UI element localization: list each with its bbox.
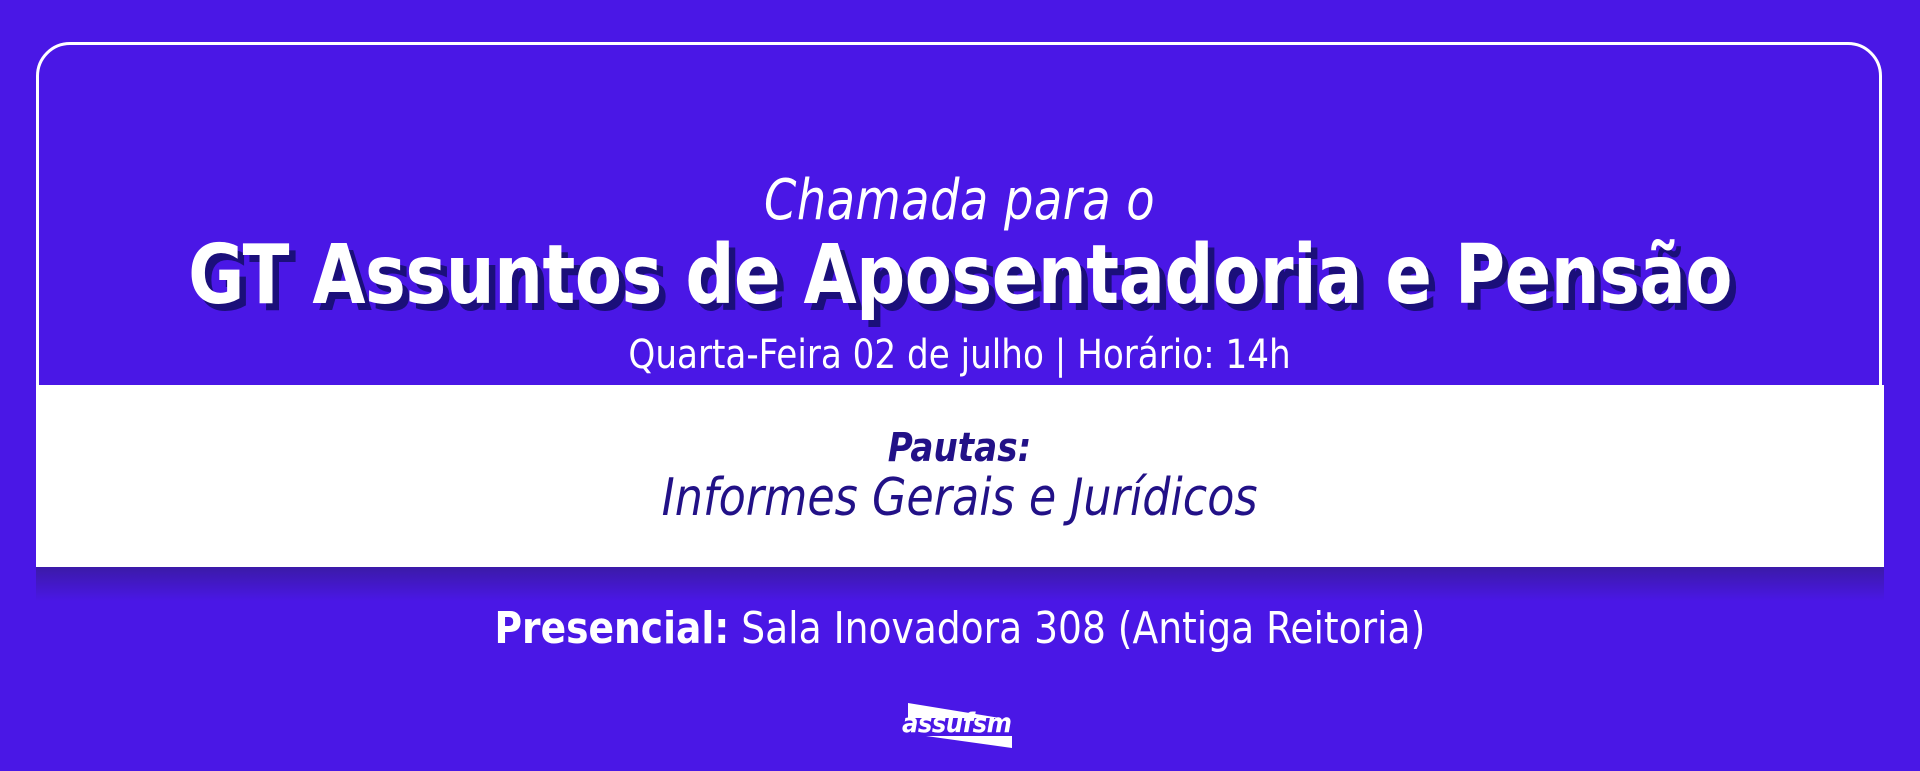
agenda-band: Pautas: Informes Gerais e Jurídicos — [36, 385, 1884, 567]
agenda-label: Pautas: — [888, 427, 1031, 469]
logo-container: assufsm — [0, 700, 1920, 760]
venue-value: Sala Inovadora 308 (Antiga Reitoria) — [741, 603, 1425, 654]
poster-kicker: Chamada para o — [764, 173, 1155, 229]
venue-line: Presencial: Sala Inovadora 308 (Antiga R… — [495, 607, 1426, 651]
poster-headline: GT Assuntos de Aposentadoria e Pensão — [188, 235, 1732, 317]
poster-canvas: Chamada para o GT Assuntos de Aposentado… — [0, 0, 1920, 771]
agenda-items: Informes Gerais e Jurídicos — [662, 471, 1258, 526]
poster-header: Chamada para o GT Assuntos de Aposentado… — [0, 0, 1920, 385]
assufsm-logo-text: assufsm — [902, 710, 1011, 737]
assufsm-logo: assufsm — [896, 700, 1024, 752]
venue-band: Presencial: Sala Inovadora 308 (Antiga R… — [36, 567, 1884, 722]
poster-datetime: Quarta-Feira 02 de julho | Horário: 14h — [629, 335, 1291, 375]
venue-label: Presencial: — [495, 603, 730, 654]
